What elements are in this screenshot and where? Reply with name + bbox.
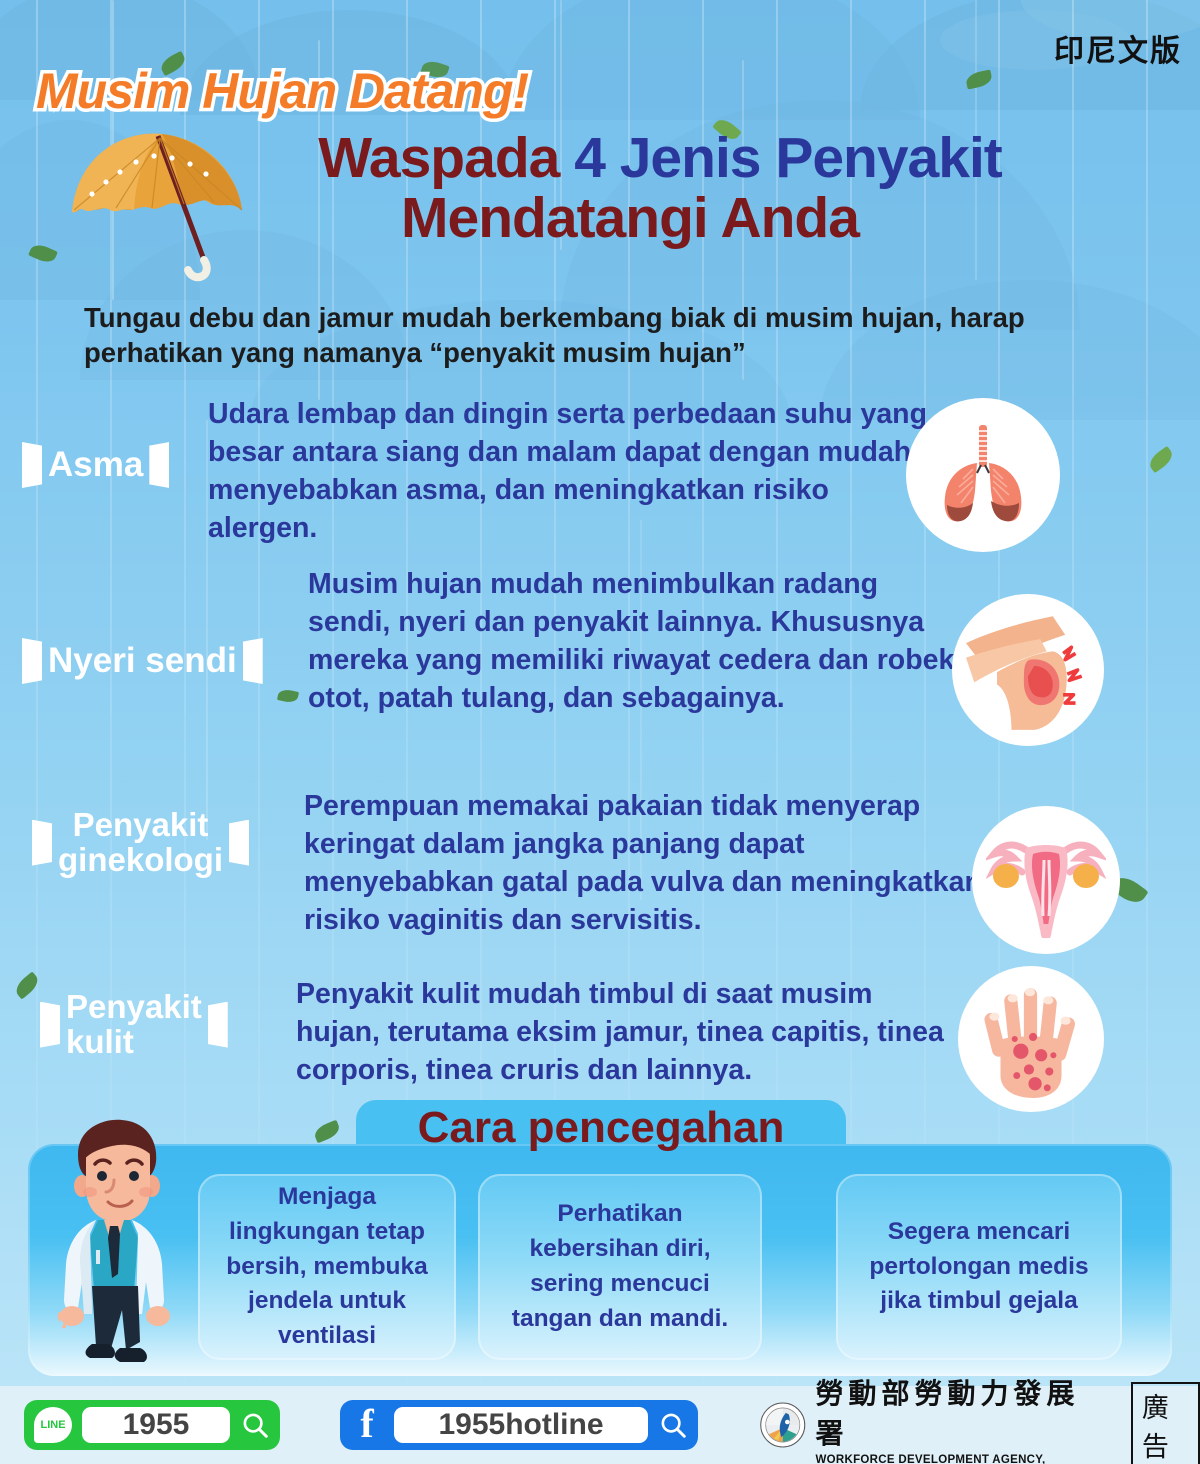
disease-label-kulit: Penyakit kulit [40, 990, 228, 1059]
line-contact-pill[interactable]: LINE 1955 [24, 1400, 280, 1450]
bracket-right-icon [229, 820, 249, 866]
agency-block: 勞動部勞動力發展署 WORKFORCE DEVELOPMENT AGENCY, … [760, 1372, 1200, 1464]
page-title: Waspada 4 Jenis Penyakit Mendatangi Anda [0, 128, 1200, 249]
agency-name-zh: 勞動部勞動力發展署 [816, 1372, 1105, 1452]
line-app-icon: LINE [34, 1407, 72, 1443]
disease-label-nyeri-sendi: Nyeri sendi [22, 638, 263, 684]
prevention-card-1: Menjaga lingkungan tetap bersih, membuka… [198, 1174, 456, 1360]
lungs-illustration [923, 415, 1043, 535]
disease-label-text: Penyakit ginekologi [58, 808, 223, 877]
uterus-illustration [986, 820, 1106, 940]
prevention-title: Cara pencegahan [356, 1103, 846, 1153]
disease-label-text: Asma [48, 447, 143, 484]
bracket-left-icon [22, 638, 42, 684]
headline-part-waspada: Waspada [318, 126, 574, 190]
disease-body-ginekologi: Perempuan memakai pakaian tidak menyerap… [304, 788, 984, 940]
agency-names: 勞動部勞動力發展署 WORKFORCE DEVELOPMENT AGENCY, … [816, 1372, 1105, 1464]
agency-seal-icon [760, 1397, 806, 1453]
prevention-card-text: Menjaga lingkungan tetap bersih, membuka… [212, 1180, 442, 1354]
prevention-card-text: Perhatikan kebersihan diri, sering mencu… [492, 1197, 748, 1336]
headline-line-2: Mendatangi Anda [0, 188, 1200, 248]
search-icon[interactable] [658, 1410, 688, 1440]
search-icon[interactable] [240, 1410, 270, 1440]
bracket-left-icon [32, 820, 52, 866]
line-id-value[interactable]: 1955 [82, 1407, 230, 1443]
facebook-icon: f [350, 1407, 384, 1443]
disease-label-line2: kulit [66, 1025, 202, 1060]
intro-paragraph: Tungau debu dan jamur mudah berkembang b… [84, 300, 1124, 370]
hand-rash-illustration [970, 978, 1092, 1100]
kicker-text: Musim Hujan Datang! [36, 62, 528, 120]
agency-name-en: WORKFORCE DEVELOPMENT AGENCY, MINISTRY O… [816, 1454, 1105, 1464]
doctor-character-icon [34, 1114, 194, 1372]
uterus-icon [972, 806, 1120, 954]
line-badge-text: LINE [40, 1419, 65, 1431]
prevention-card-text: Segera mencari pertolongan medis jika ti… [850, 1215, 1108, 1319]
disease-body-asma: Udara lembap dan dingin serta perbedaan … [208, 396, 928, 548]
disease-label-ginekologi: Penyakit ginekologi [32, 808, 249, 877]
bracket-left-icon [22, 442, 42, 488]
bracket-right-icon [243, 638, 263, 684]
footer-bar: LINE 1955 f 1955hotline [0, 1386, 1200, 1464]
prevention-card-3: Segera mencari pertolongan medis jika ti… [836, 1174, 1122, 1360]
bracket-right-icon [208, 1002, 228, 1048]
facebook-contact-pill[interactable]: f 1955hotline [340, 1400, 698, 1450]
skin-rash-hand-icon [958, 966, 1104, 1112]
facebook-page-value[interactable]: 1955hotline [394, 1407, 648, 1443]
ad-label-box: 廣告 [1131, 1382, 1200, 1464]
poster-root: 印尼文版 Musim Hujan Datang! Waspada 4 Jenis… [0, 0, 1200, 1464]
lungs-icon [906, 398, 1060, 552]
disease-label-line2: ginekologi [58, 843, 223, 878]
headline-part-count: 4 Jenis Penyakit [574, 126, 1002, 190]
knee-illustration [966, 608, 1090, 732]
disease-label-line1: Penyakit [58, 808, 223, 843]
disease-body-kulit: Penyakit kulit mudah timbul di saat musi… [296, 976, 956, 1090]
disease-label-asma: Asma [22, 442, 169, 488]
language-badge: 印尼文版 [1054, 26, 1182, 70]
knee-joint-pain-icon [952, 594, 1104, 746]
bracket-left-icon [40, 1002, 60, 1048]
prevention-card-2: Perhatikan kebersihan diri, sering mencu… [478, 1174, 762, 1360]
disease-label-line1: Penyakit [66, 990, 202, 1025]
disease-label-text: Penyakit kulit [66, 990, 202, 1059]
disease-body-nyeri-sendi: Musim hujan mudah menimbulkan radang sen… [308, 566, 968, 718]
bracket-right-icon [149, 442, 169, 488]
disease-label-text: Nyeri sendi [48, 643, 237, 680]
